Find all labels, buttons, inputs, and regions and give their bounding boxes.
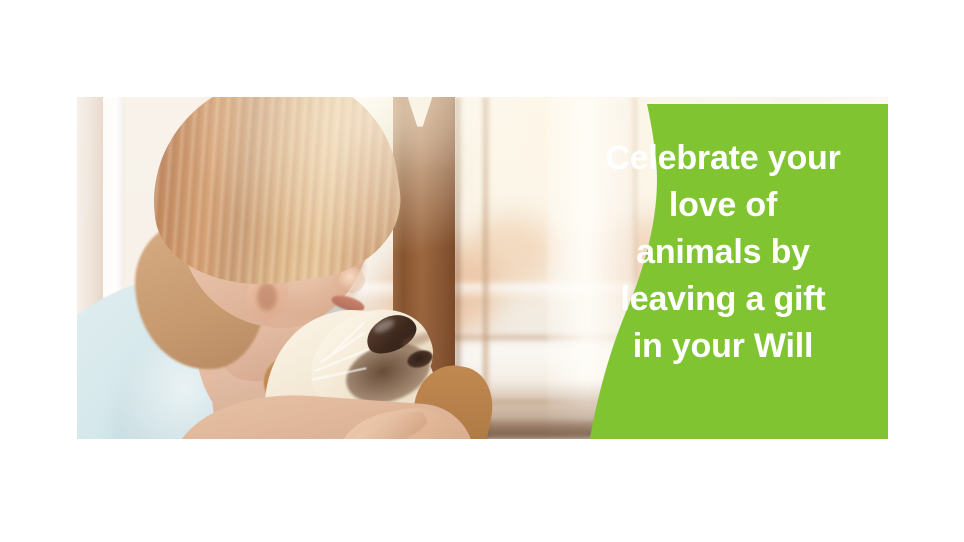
headline-line-2: love of <box>564 182 882 229</box>
legacy-giving-banner: Celebrate your love of animals by leavin… <box>77 97 888 439</box>
headline: Celebrate your love of animals by leavin… <box>564 135 882 370</box>
woman-ear-inner <box>257 283 277 311</box>
headline-line-4: leaving a gift <box>564 276 882 323</box>
headline-line-5: in your Will <box>564 323 882 370</box>
headline-line-1: Celebrate your <box>564 135 882 182</box>
headline-line-3: animals by <box>564 229 882 276</box>
